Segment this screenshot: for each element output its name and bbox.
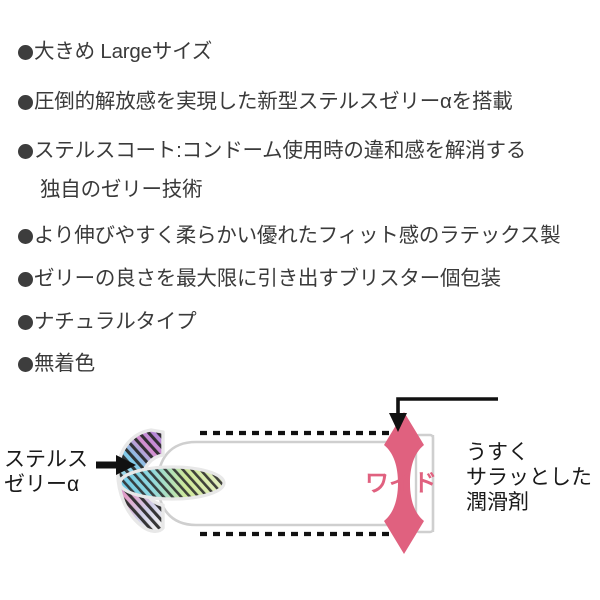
- feature-item: 圧倒的解放感を実現した新型ステルスゼリーαを搭載: [18, 92, 513, 113]
- feature-item: 無着色: [18, 354, 95, 375]
- stealth-jelly-label-line1: ステルス: [4, 447, 88, 472]
- feature-item-label: ステルスコート:コンドーム使用時の違和感を解消する: [34, 141, 526, 162]
- lubricant-label-line3: 潤滑剤: [466, 490, 592, 515]
- feature-item: ステルスコート:コンドーム使用時の違和感を解消する: [18, 141, 526, 162]
- product-diagram: ステルス ゼリーα うすく サラッとした 潤滑剤 ワイド: [0, 385, 600, 600]
- wide-label: ワイド: [365, 463, 437, 498]
- bullet-dot-icon: [18, 272, 33, 287]
- feature-item: 大きめ Largeサイズ: [18, 42, 212, 63]
- feature-item-label: ナチュラルタイプ: [34, 312, 196, 333]
- feature-item-label: ゼリーの良さを最大限に引き出すブリスター個包装: [34, 269, 501, 290]
- stealth-jelly-label-line2: ゼリーα: [4, 472, 88, 497]
- feature-item: ゼリーの良さを最大限に引き出すブリスター個包装: [18, 269, 501, 290]
- stealth-jelly-label: ステルス ゼリーα: [4, 447, 88, 497]
- feature-item-label: 無着色: [34, 354, 95, 375]
- bullet-dot-icon: [18, 357, 33, 372]
- feature-item-label: より伸びやすく柔らかい優れたフィット感のラテックス製: [34, 226, 560, 247]
- feature-item: ナチュラルタイプ: [18, 312, 196, 333]
- feature-item: より伸びやすく柔らかい優れたフィット感のラテックス製: [18, 226, 560, 247]
- feature-item: 独自のゼリー技術: [40, 180, 202, 201]
- bullet-dot-icon: [18, 229, 33, 244]
- feature-item-label: 圧倒的解放感を実現した新型ステルスゼリーαを搭載: [34, 92, 513, 113]
- feature-item-label: 独自のゼリー技術: [40, 180, 202, 201]
- bullet-dot-icon: [18, 315, 33, 330]
- bullet-dot-icon: [18, 95, 33, 110]
- bullet-dot-icon: [18, 45, 33, 60]
- bullet-dot-icon: [18, 144, 33, 159]
- lubricant-label-line1: うすく: [466, 440, 592, 465]
- lubricant-label: うすく サラッとした 潤滑剤: [466, 440, 592, 515]
- feature-item-label: 大きめ Largeサイズ: [34, 42, 212, 63]
- lubricant-label-line2: サラッとした: [466, 465, 592, 490]
